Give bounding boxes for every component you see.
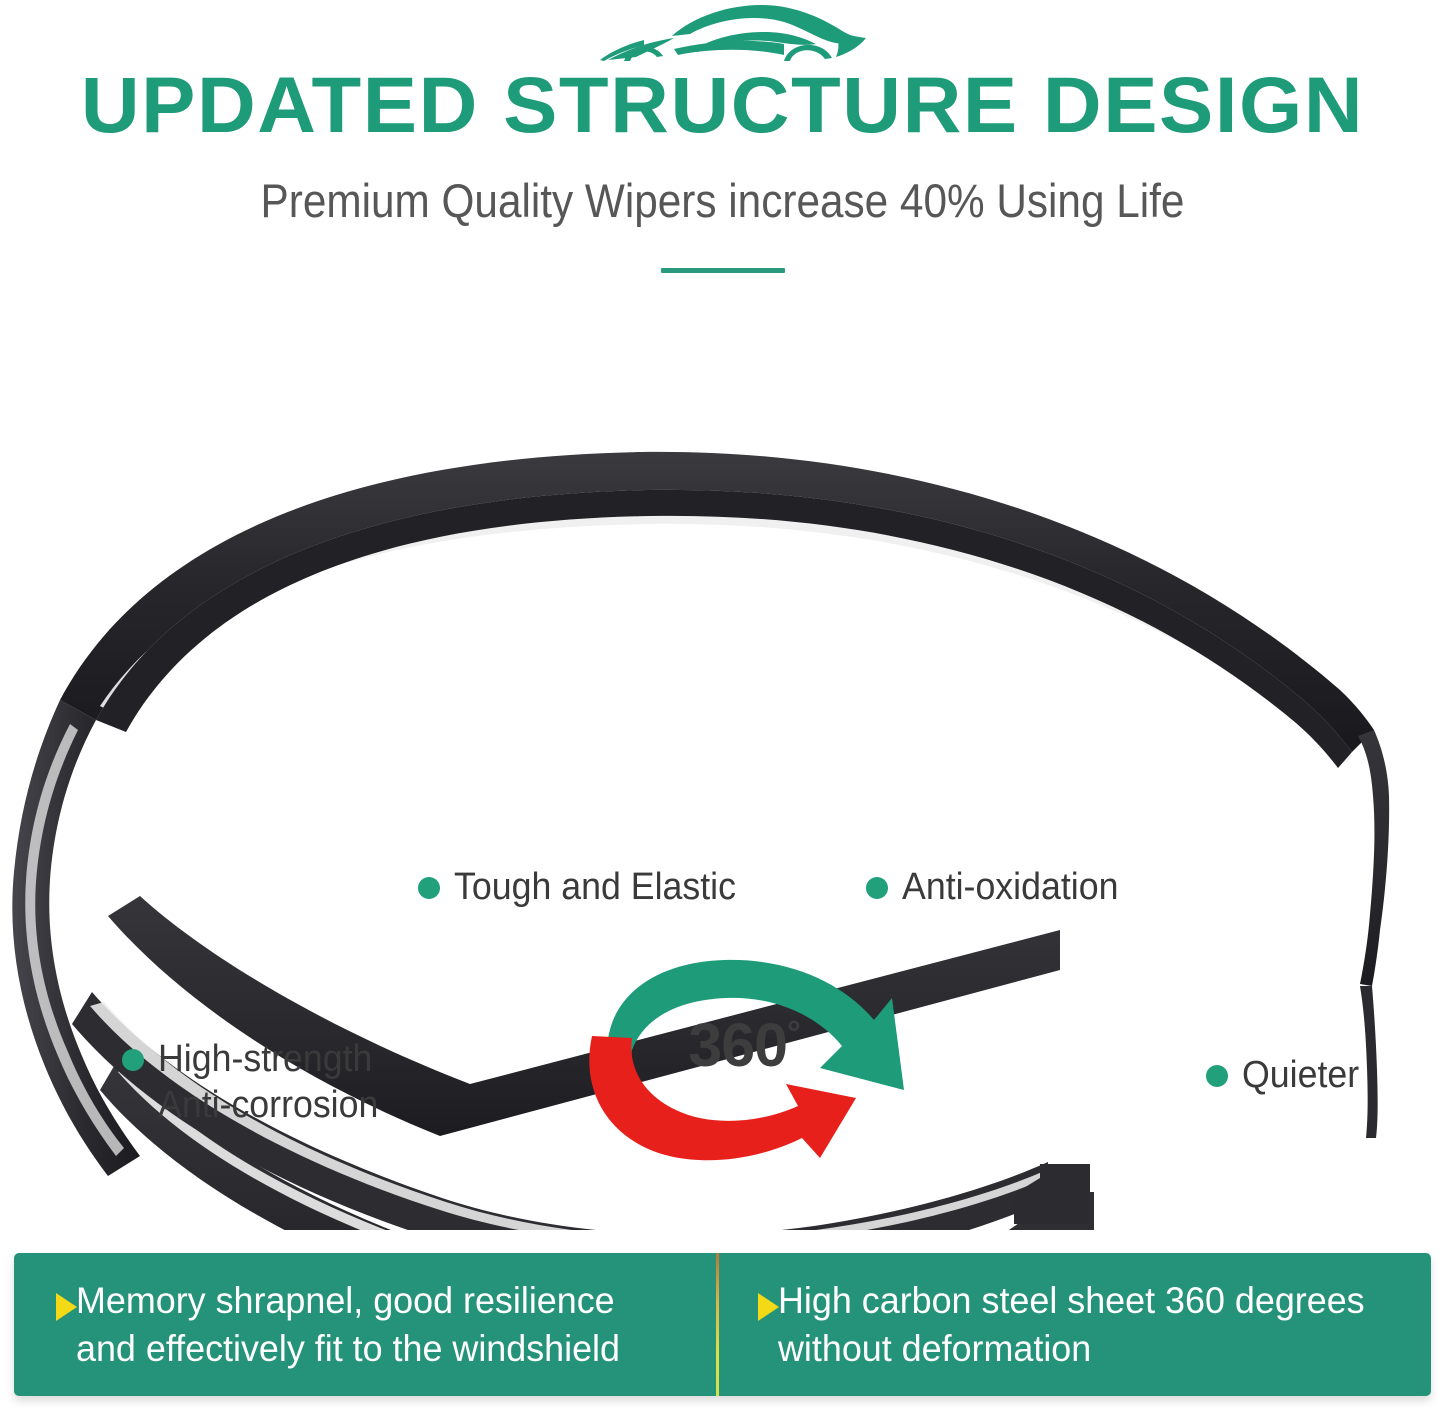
title-underline-divider	[661, 268, 785, 273]
bullet-dot-icon	[418, 877, 440, 899]
page-title: UPDATED STRUCTURE DESIGN	[0, 62, 1445, 148]
badge-number: 360	[688, 1011, 787, 1079]
bottom-panel-high-carbon-steel: High carbon steel sheet 360 degrees with…	[716, 1253, 1431, 1396]
feature-anti-oxidation: Anti-oxidation	[866, 864, 1132, 910]
feature-label: Tough and Elastic	[454, 864, 736, 910]
feature-label: Anti-oxidation	[902, 864, 1118, 910]
page-subtitle: Premium Quality Wipers increase 40% Usin…	[72, 172, 1373, 230]
sports-car-silhouette-icon	[578, 4, 878, 62]
bullet-dot-icon	[866, 877, 888, 899]
triangle-bullet-icon	[56, 1293, 77, 1321]
badge-text: 360°	[574, 1013, 914, 1077]
feature-label-line-2: Anti-corrosion	[158, 1082, 378, 1128]
panel-text-line-2: without deformation	[778, 1325, 1365, 1373]
header-section: UPDATED STRUCTURE DESIGN Premium Quality…	[0, 0, 1445, 300]
feature-label: Quieter	[1242, 1052, 1359, 1098]
panel-text-line-2: and effectively fit to the windshield	[76, 1325, 620, 1373]
triangle-bullet-icon	[758, 1293, 779, 1321]
panel-text-line-1: Memory shrapnel, good resilience	[76, 1277, 620, 1325]
bottom-panel-memory-shrapnel: Memory shrapnel, good resilience and eff…	[14, 1253, 716, 1396]
product-stage: Tough and Elastic Anti-oxidation High-st…	[0, 300, 1445, 1230]
bottom-feature-bar: Memory shrapnel, good resilience and eff…	[14, 1253, 1431, 1396]
bullet-dot-icon	[122, 1049, 144, 1071]
feature-label-line-1: High-strength	[158, 1036, 378, 1082]
feature-quieter: Quieter	[1206, 1052, 1367, 1098]
panel-text-line-1: High carbon steel sheet 360 degrees	[778, 1277, 1365, 1325]
bullet-dot-icon	[1206, 1065, 1228, 1087]
feature-tough-and-elastic: Tough and Elastic	[418, 864, 754, 910]
feature-high-strength-anti-corrosion: High-strength Anti-corrosion	[122, 1036, 392, 1128]
360-degree-rotation-badge: 360°	[574, 958, 914, 1163]
degree-symbol: °	[787, 1015, 800, 1053]
